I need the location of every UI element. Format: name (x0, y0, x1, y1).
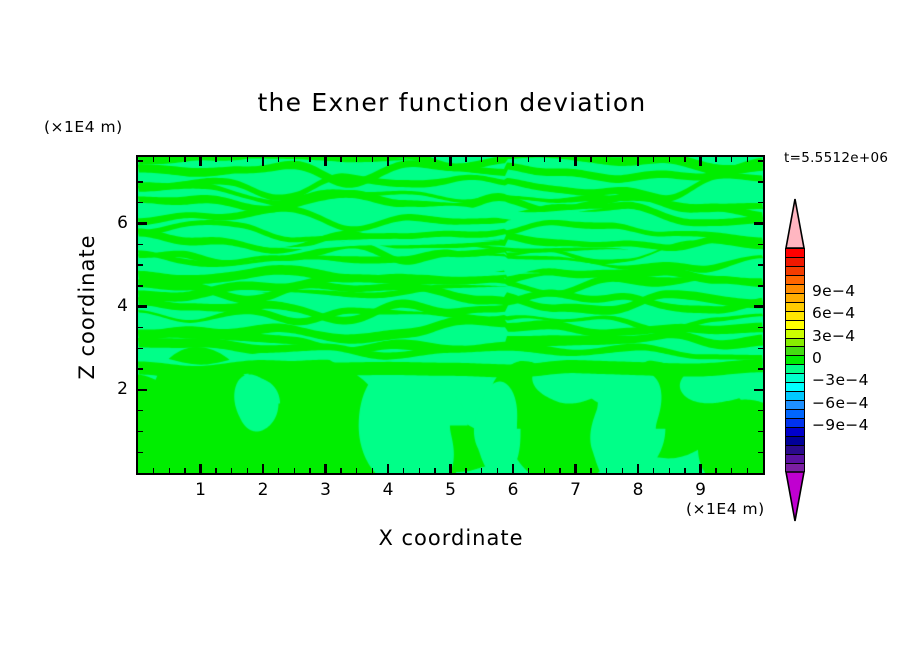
y-axis-tick (138, 222, 147, 224)
x-axis-tick (715, 157, 716, 162)
x-axis-tick (294, 468, 295, 473)
colorbar-band (786, 312, 804, 321)
colorbar-band (786, 455, 804, 464)
x-axis-tick (699, 157, 701, 166)
colorbar-band (786, 339, 804, 348)
x-axis-tick (637, 464, 639, 473)
y-axis-tick (754, 389, 763, 391)
y-axis-tick (758, 285, 763, 286)
x-axis-tick (481, 468, 482, 473)
x-axis-tick (324, 464, 326, 473)
y-axis-tick (758, 160, 763, 161)
colorbar-band (786, 267, 804, 276)
x-axis-tick (309, 468, 310, 473)
x-axis-tick (372, 468, 373, 473)
colorbar-band (786, 446, 804, 455)
x-axis-tick (606, 157, 607, 162)
x-axis-tick (199, 464, 201, 473)
colorbar-tick-label: 6e−4 (812, 304, 855, 322)
y-axis-tick (754, 305, 763, 307)
y-tick-label: 6 (98, 213, 128, 233)
x-axis-tick (715, 468, 716, 473)
x-axis-tick (294, 157, 295, 162)
y-axis-tick (138, 410, 143, 411)
colorbar-band (786, 428, 804, 437)
y-axis-tick (758, 368, 763, 369)
colorbar-band (786, 401, 804, 410)
colorbar-band (786, 383, 804, 392)
x-axis-tick (403, 468, 404, 473)
colorbar-tick-label: −9e−4 (812, 416, 869, 434)
x-axis-tick (559, 157, 560, 162)
x-axis-tick (747, 157, 748, 162)
x-axis-tick (497, 468, 498, 473)
y-axis-tick (138, 244, 143, 245)
x-axis-tick (574, 464, 576, 473)
x-axis-tick (387, 464, 389, 473)
x-axis-tick (231, 157, 232, 162)
x-axis-title: X coordinate (136, 526, 766, 550)
colorbar-tick-label: 9e−4 (812, 282, 855, 300)
y-axis-tick (758, 431, 763, 432)
colorbar-band (786, 276, 804, 285)
y-axis-tick (758, 244, 763, 245)
x-axis-tick (449, 157, 451, 166)
colorbar (782, 198, 808, 522)
y-axis-tick (138, 160, 143, 161)
x-axis-tick (465, 468, 466, 473)
x-axis-tick (247, 157, 248, 162)
x-axis-tick (653, 468, 654, 473)
colorbar-band (786, 321, 804, 330)
y-tick-label: 2 (98, 379, 128, 399)
x-axis-tick (528, 468, 529, 473)
x-axis-tick (184, 157, 185, 162)
x-axis-tick (449, 464, 451, 473)
colorbar-band (786, 303, 804, 312)
x-axis-tick (153, 468, 154, 473)
y-axis-tick (138, 348, 143, 349)
x-axis-tick (419, 468, 420, 473)
y-axis-tick (138, 264, 143, 265)
x-axis-tick (278, 157, 279, 162)
x-axis-tick (622, 468, 623, 473)
y-axis-tick (138, 431, 143, 432)
x-axis-tick (465, 157, 466, 162)
x-tick-label: 5 (436, 480, 466, 500)
x-axis-tick (684, 468, 685, 473)
colorbar-band (786, 374, 804, 383)
y-axis-tick (758, 348, 763, 349)
y-axis-tick (758, 452, 763, 453)
colorbar-tick-label: −3e−4 (812, 371, 869, 389)
y-axis-title: Z coordinate (75, 182, 99, 432)
x-axis-tick (590, 157, 591, 162)
x-axis-units: (×1E4 m) (686, 500, 765, 518)
colorbar-tick-label: −6e−4 (812, 394, 869, 412)
x-axis-tick (590, 468, 591, 473)
x-axis-tick (574, 157, 576, 166)
colorbar-tick-label: 0 (812, 349, 822, 367)
y-axis-tick (138, 368, 143, 369)
y-axis-tick (138, 305, 147, 307)
x-axis-tick (324, 157, 326, 166)
colorbar-band (786, 294, 804, 303)
y-axis-tick (138, 389, 147, 391)
colorbar-tick-label: 3e−4 (812, 327, 855, 345)
x-axis-tick (684, 157, 685, 162)
x-axis-tick (387, 157, 389, 166)
x-axis-tick (512, 464, 514, 473)
x-axis-tick (309, 157, 310, 162)
x-tick-label: 7 (561, 480, 591, 500)
y-axis-tick (758, 327, 763, 328)
x-axis-tick (669, 157, 670, 162)
x-axis-tick (169, 468, 170, 473)
x-axis-tick (559, 468, 560, 473)
colorbar-band (786, 249, 804, 258)
x-axis-tick (340, 468, 341, 473)
y-axis-tick (758, 181, 763, 182)
x-axis-tick (731, 157, 732, 162)
x-axis-tick (403, 157, 404, 162)
x-axis-tick (481, 157, 482, 162)
x-tick-label: 1 (186, 480, 216, 500)
x-axis-tick (278, 468, 279, 473)
x-axis-tick (215, 468, 216, 473)
x-axis-tick (372, 157, 373, 162)
colorbar-band (786, 285, 804, 294)
x-tick-label: 6 (498, 480, 528, 500)
x-tick-label: 3 (311, 480, 341, 500)
y-axis-tick (138, 202, 143, 203)
colorbar-band (786, 419, 804, 428)
x-axis-tick (653, 157, 654, 162)
x-axis-tick (262, 464, 264, 473)
y-axis-units: (×1E4 m) (44, 118, 123, 136)
colorbar-overflow-top-arrow (785, 198, 805, 249)
colorbar-band (786, 437, 804, 446)
y-axis-tick (138, 181, 143, 182)
x-axis-tick (153, 157, 154, 162)
colorbar-band (786, 356, 804, 365)
x-tick-label: 8 (623, 480, 653, 500)
x-axis-tick (215, 157, 216, 162)
x-axis-tick (497, 157, 498, 162)
y-axis-tick (758, 202, 763, 203)
x-axis-tick (747, 468, 748, 473)
x-axis-tick (622, 157, 623, 162)
y-axis-tick (758, 264, 763, 265)
x-axis-tick (528, 157, 529, 162)
colorbar-overflow-bottom-arrow (785, 471, 805, 522)
y-tick-label: 4 (98, 296, 128, 316)
y-axis-tick (758, 410, 763, 411)
timestamp-label: t=5.5512e+06 (784, 150, 888, 166)
colorbar-band (786, 365, 804, 374)
x-axis-tick (544, 468, 545, 473)
x-axis-tick (606, 468, 607, 473)
x-axis-tick (512, 157, 514, 166)
x-axis-tick (247, 468, 248, 473)
colorbar-band (786, 392, 804, 401)
y-axis-tick (138, 327, 143, 328)
y-axis-tick (138, 285, 143, 286)
x-tick-label: 2 (248, 480, 278, 500)
y-axis-tick (754, 222, 763, 224)
x-axis-tick (434, 468, 435, 473)
x-axis-tick (419, 157, 420, 162)
y-axis-tick (138, 452, 143, 453)
x-axis-tick (340, 157, 341, 162)
x-axis-tick (731, 468, 732, 473)
x-axis-tick (262, 157, 264, 166)
contour-plot-area (136, 155, 765, 475)
x-tick-label: 9 (686, 480, 716, 500)
x-tick-label: 4 (373, 480, 403, 500)
colorbar-band (786, 258, 804, 267)
x-axis-tick (231, 468, 232, 473)
x-axis-tick (199, 157, 201, 166)
scalar-field-canvas (138, 157, 763, 473)
colorbar-band (786, 330, 804, 339)
x-axis-tick (169, 157, 170, 162)
x-axis-tick (699, 464, 701, 473)
x-axis-tick (669, 468, 670, 473)
x-axis-tick (544, 157, 545, 162)
x-axis-tick (356, 468, 357, 473)
colorbar-band (786, 347, 804, 356)
x-axis-tick (184, 468, 185, 473)
x-axis-tick (434, 157, 435, 162)
colorbar-bands (785, 248, 805, 472)
colorbar-band (786, 410, 804, 419)
x-axis-tick (356, 157, 357, 162)
x-axis-tick (637, 157, 639, 166)
page-title: the Exner function deviation (0, 88, 904, 117)
